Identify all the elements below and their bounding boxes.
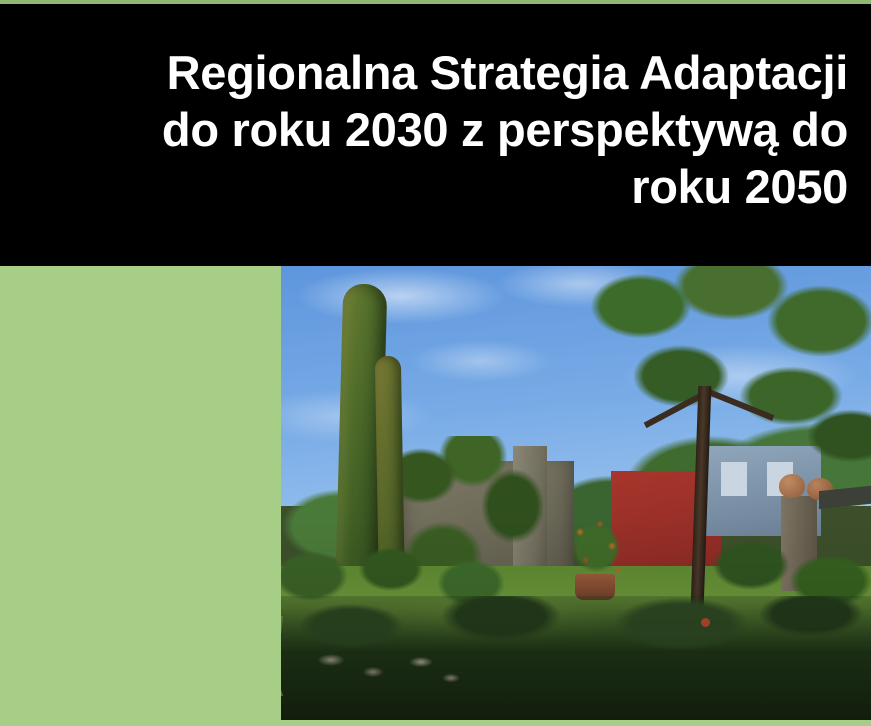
cover-photo	[281, 266, 871, 720]
title-band: Regionalna Strategia Adaptacji do roku 2…	[0, 4, 871, 266]
photo-dry-grass	[281, 616, 481, 696]
photo-tree-canopy	[581, 266, 871, 496]
slide-root: Regionalna Strategia Adaptacji do roku 2…	[0, 0, 871, 726]
photo-fallen-apple	[701, 618, 710, 627]
page-title: Regionalna Strategia Adaptacji do roku 2…	[20, 44, 848, 215]
